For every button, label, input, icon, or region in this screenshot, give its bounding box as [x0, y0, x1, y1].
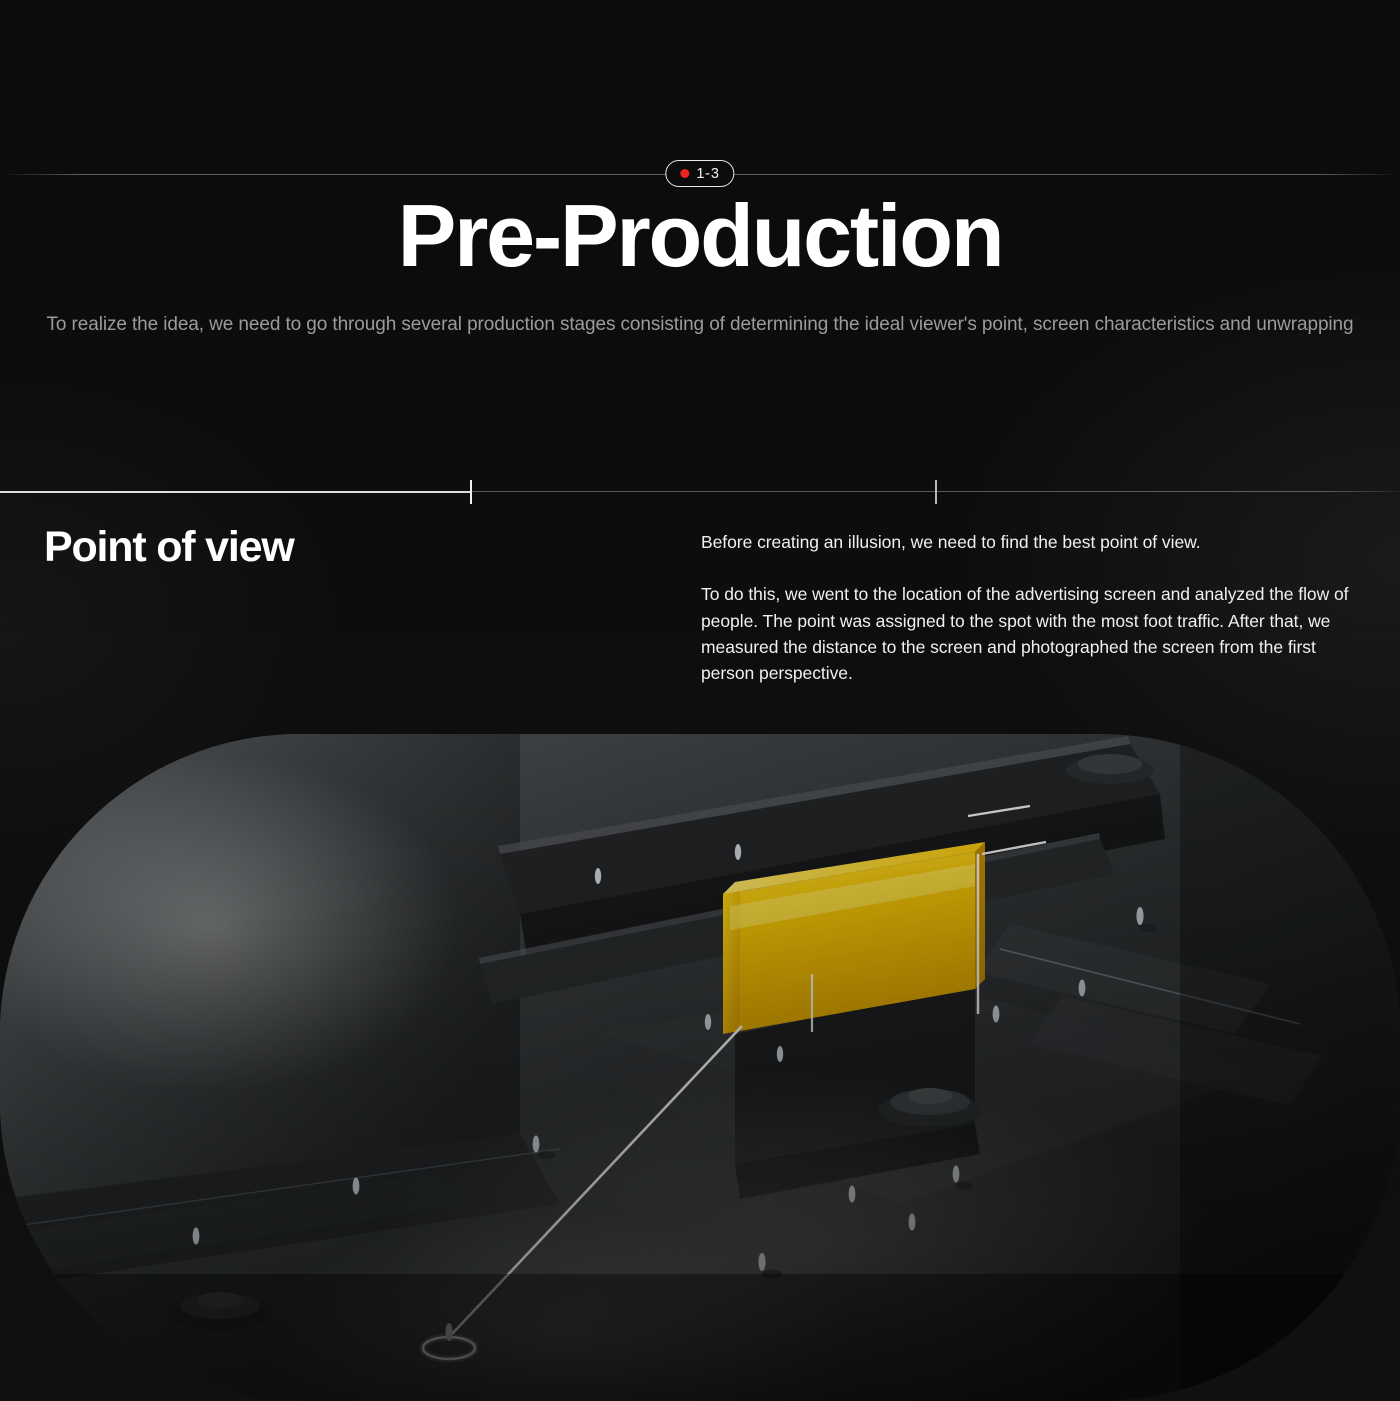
page-title: Pre-Production	[0, 192, 1400, 280]
record-dot-icon	[680, 169, 689, 178]
section-body: Before creating an illusion, we need to …	[701, 529, 1361, 686]
section-paragraph-1: Before creating an illusion, we need to …	[701, 529, 1361, 555]
divider-tick-1	[470, 480, 472, 504]
slide-number-label: 1-3	[696, 166, 719, 182]
slide-number-badge: 1-3	[665, 160, 734, 187]
section-paragraph-2: To do this, we went to the location of t…	[701, 581, 1361, 686]
page-subtitle: To realize the idea, we need to go throu…	[0, 310, 1400, 340]
isometric-scene-graphic	[0, 734, 1400, 1401]
hero: Pre-Production To realize the idea, we n…	[0, 192, 1400, 340]
section-divider-left	[0, 491, 470, 493]
divider-tick-2	[935, 480, 937, 504]
section-divider	[0, 491, 1400, 492]
slide-root: 1-3 Pre-Production To realize the idea, …	[0, 0, 1400, 1401]
pov-illustration: 15m 8m 4m VIEWPOINT / ~50M	[0, 734, 1400, 1401]
section-heading: Point of view	[44, 523, 294, 572]
